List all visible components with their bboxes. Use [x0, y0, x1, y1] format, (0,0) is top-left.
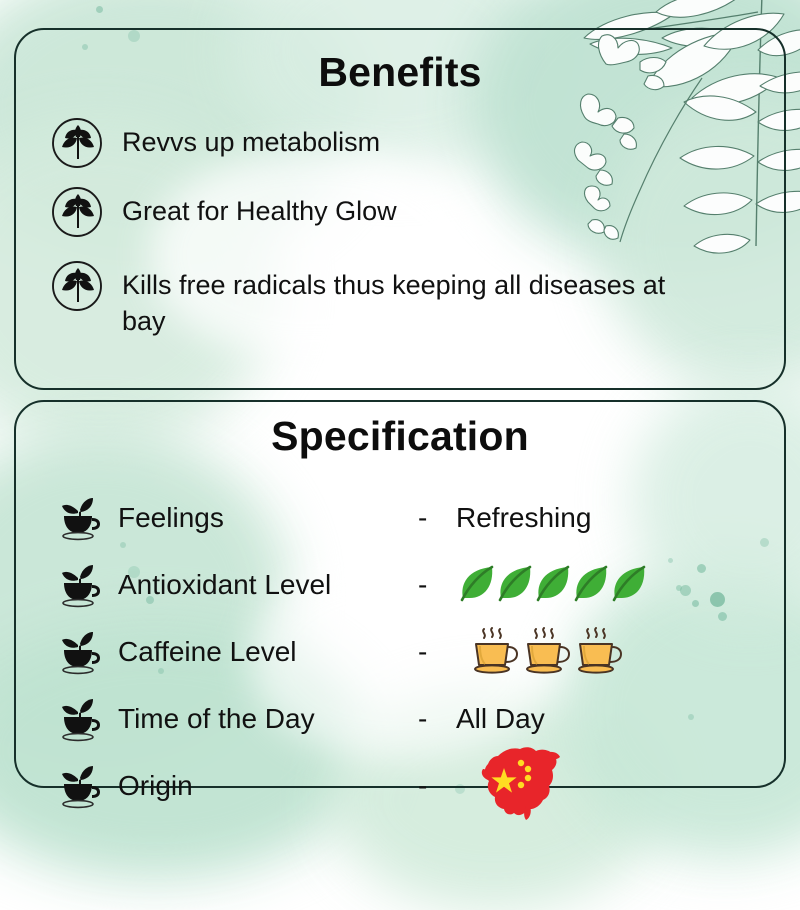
specification-card: Specification Feelings - Refreshing: [14, 400, 786, 788]
spec-value-antioxidant: [456, 564, 770, 606]
specification-title: Specification: [16, 416, 784, 457]
spec-value-feelings: Refreshing: [456, 504, 770, 532]
spec-row: Time of the Day - All Day: [54, 685, 770, 752]
spec-label: Caffeine Level: [118, 638, 418, 666]
benefit-item: Revvs up metabolism: [16, 120, 784, 170]
benefit-item: Great for Healthy Glow: [16, 189, 784, 239]
leaf-sprig-icon: [50, 259, 104, 313]
spec-row: Origin -: [54, 752, 770, 819]
spec-separator: -: [418, 569, 456, 601]
teacup-leaf-icon: [54, 762, 104, 810]
caffeine-cup-rating: [468, 625, 624, 679]
spec-label: Time of the Day: [118, 705, 418, 733]
benefits-title: Benefits: [16, 52, 784, 93]
teacup-leaf-icon: [54, 561, 104, 609]
benefits-list: Revvs up metabolism Great for Healthy Gl: [16, 120, 784, 340]
specification-list: Feelings - Refreshing Antioxidant Le: [16, 484, 784, 819]
coffee-cup-icon: [468, 625, 518, 679]
spec-row: Antioxidant Level -: [54, 551, 770, 618]
benefit-text: Kills free radicals thus keeping all dis…: [122, 263, 667, 340]
spec-label: Origin: [118, 772, 418, 800]
spec-separator: -: [418, 636, 456, 668]
spec-separator: -: [418, 703, 456, 735]
china-map-flag-icon: [474, 740, 570, 827]
benefit-text: Revvs up metabolism: [122, 120, 380, 161]
benefit-text: Great for Healthy Glow: [122, 189, 397, 230]
spec-separator: -: [418, 770, 456, 802]
antioxidant-leaf-rating: [456, 562, 646, 606]
spec-row: Caffeine Level -: [54, 618, 770, 685]
benefit-item: Kills free radicals thus keeping all dis…: [16, 263, 784, 340]
teacup-leaf-icon: [54, 628, 104, 676]
watercolor-dot: [96, 6, 103, 13]
coffee-cup-icon: [520, 625, 570, 679]
spec-label: Feelings: [118, 504, 418, 532]
teacup-leaf-icon: [54, 494, 104, 542]
spec-row: Feelings - Refreshing: [54, 484, 770, 551]
benefits-card: Benefits Revvs up metabolism: [14, 28, 786, 390]
spec-separator: -: [418, 502, 456, 534]
leaf-sprig-icon: [50, 185, 104, 239]
leaf-sprig-icon: [50, 116, 104, 170]
spec-value-caffeine: [456, 625, 770, 679]
coffee-cup-icon: [572, 625, 622, 679]
spec-value-origin: [456, 744, 770, 827]
spec-value-time-of-day: All Day: [456, 705, 770, 733]
green-leaf-icon: [608, 562, 652, 606]
spec-label: Antioxidant Level: [118, 571, 418, 599]
teacup-leaf-icon: [54, 695, 104, 743]
